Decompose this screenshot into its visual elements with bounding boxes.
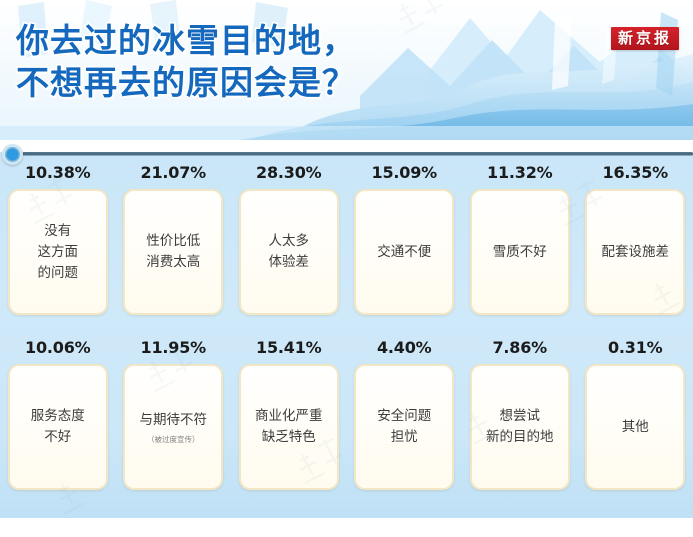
divider-line [22,152,693,156]
results-row-1: 10.38% 没有 这方面 的问题 21.07% 性价比低 消费太高 28.30… [0,164,693,339]
brand-logo: 新京报 [611,27,679,50]
header-banner: 你去过的冰雪目的地， 不想再去的原因会是？ 新京报 [0,0,693,140]
percentage-label: 7.86% [492,339,547,357]
reason-label: 其他 [622,417,649,438]
result-cell: 15.09% 交通不便 [347,164,463,339]
result-cell: 10.06% 服务态度 不好 [0,339,116,514]
reason-label: 与期待不符 [140,410,208,431]
result-cell: 21.07% 性价比低 消费太高 [116,164,232,339]
reason-label: 交通不便 [377,242,431,263]
title-line-1: 你去过的冰雪目的地， [16,21,356,60]
result-cell: 7.86% 想尝试 新的目的地 [462,339,578,514]
percentage-label: 11.32% [487,164,552,182]
reason-label: 配套设施差 [602,242,670,263]
reason-label: 服务态度 不好 [31,406,85,448]
reason-card[interactable]: 雪质不好 [470,189,570,315]
percentage-label: 10.38% [25,164,90,182]
reason-card[interactable]: 想尝试 新的目的地 [470,364,570,490]
reason-card[interactable]: 其他 [585,364,685,490]
percentage-label: 11.95% [141,339,206,357]
divider [0,144,693,164]
reason-label: 没有 这方面 的问题 [38,221,79,284]
percentage-label: 16.35% [603,164,668,182]
reason-label: 雪质不好 [493,242,547,263]
result-cell: 0.31% 其他 [578,339,693,514]
reason-card[interactable]: 人太多 体验差 [239,189,339,315]
page-title: 你去过的冰雪目的地， 不想再去的原因会是？ [16,20,356,104]
footer-strip [0,518,693,537]
reason-card[interactable]: 商业化严重 缺乏特色 [239,364,339,490]
reason-card[interactable]: 性价比低 消费太高 [123,189,223,315]
percentage-label: 28.30% [256,164,321,182]
reason-card[interactable]: 安全问题 担忧 [354,364,454,490]
reason-label: 人太多 体验差 [269,231,310,273]
reason-label: 安全问题 担忧 [377,406,431,448]
reason-label: 商业化严重 缺乏特色 [255,406,323,448]
reason-card[interactable]: 与期待不符 （被过度宣传） [123,364,223,490]
reason-card[interactable]: 服务态度 不好 [8,364,108,490]
percentage-label: 10.06% [25,339,90,357]
reason-label: 性价比低 消费太高 [146,231,200,273]
divider-dot-icon [2,144,23,165]
result-cell: 11.95% 与期待不符 （被过度宣传） [116,339,232,514]
percentage-label: 15.09% [372,164,437,182]
result-cell: 15.41% 商业化严重 缺乏特色 [231,339,347,514]
result-cell: 4.40% 安全问题 担忧 [347,339,463,514]
percentage-label: 4.40% [377,339,432,357]
result-cell: 16.35% 配套设施差 [578,164,693,339]
results-grid: 10.38% 没有 这方面 的问题 21.07% 性价比低 消费太高 28.30… [0,152,693,518]
percentage-label: 21.07% [141,164,206,182]
reason-card[interactable]: 交通不便 [354,189,454,315]
reason-card[interactable]: 没有 这方面 的问题 [8,189,108,315]
brand-logo-text: 新京报 [618,30,672,46]
result-cell: 11.32% 雪质不好 [462,164,578,339]
reason-card[interactable]: 配套设施差 [585,189,685,315]
results-row-2: 10.06% 服务态度 不好 11.95% 与期待不符 （被过度宣传） 15.4… [0,339,693,514]
percentage-label: 15.41% [256,339,321,357]
reason-label: 想尝试 新的目的地 [486,406,554,448]
infographic-poster: 你去过的冰雪目的地， 不想再去的原因会是？ 新京报 10.38% 没有 这方面 … [0,0,693,537]
reason-sublabel: （被过度宣传） [147,434,200,445]
result-cell: 28.30% 人太多 体验差 [231,164,347,339]
title-line-2: 不想再去的原因会是？ [16,62,356,104]
result-cell: 10.38% 没有 这方面 的问题 [0,164,116,339]
percentage-label: 0.31% [608,339,663,357]
